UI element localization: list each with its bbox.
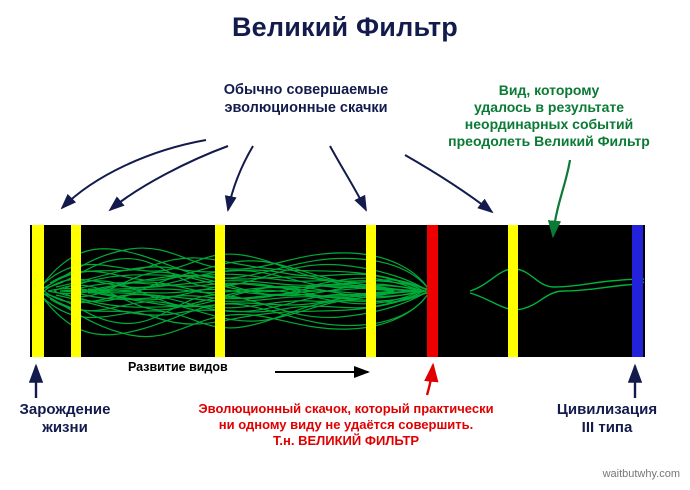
arrow-to-jump-bar-0 — [62, 140, 206, 208]
bar-great-filter — [427, 225, 438, 357]
diagram-page: Великий Фильтр Обычно совершаемые эволюц… — [0, 0, 690, 490]
bar-jump-2 — [215, 225, 225, 357]
life-threads-graphic — [30, 225, 645, 357]
evolution-band — [30, 225, 645, 357]
arrow-to-jump-bar-3 — [330, 146, 366, 210]
arrow-to-jump-bar-1 — [110, 146, 228, 210]
label-common-evolutionary-jumps: Обычно совершаемые эволюционные скачки — [186, 82, 426, 117]
bar-jump-3 — [366, 225, 376, 357]
label-great-filter: Эволюционный скачок, который практически… — [166, 401, 526, 449]
bar-jump-4 — [508, 225, 518, 357]
bar-jump-1 — [71, 225, 81, 357]
bar-origin-of-life — [32, 225, 44, 357]
arrow-to-jump-bar-4 — [405, 155, 492, 212]
credit-watermark: waitbutwhy.com — [530, 468, 680, 480]
label-evolution-axis: Развитие видов — [128, 360, 278, 375]
page-title: Великий Фильтр — [0, 12, 690, 43]
bar-civilization — [632, 225, 643, 357]
arrow-to-great-filter — [427, 365, 433, 395]
label-species-passed-filter: Вид, которому удалось в результате неорд… — [424, 82, 674, 150]
label-type-iii-civilization: Цивилизация III типа — [528, 401, 686, 438]
label-origin-of-life: Зарождение жизни — [0, 401, 130, 438]
arrow-to-jump-bar-2 — [228, 146, 253, 210]
